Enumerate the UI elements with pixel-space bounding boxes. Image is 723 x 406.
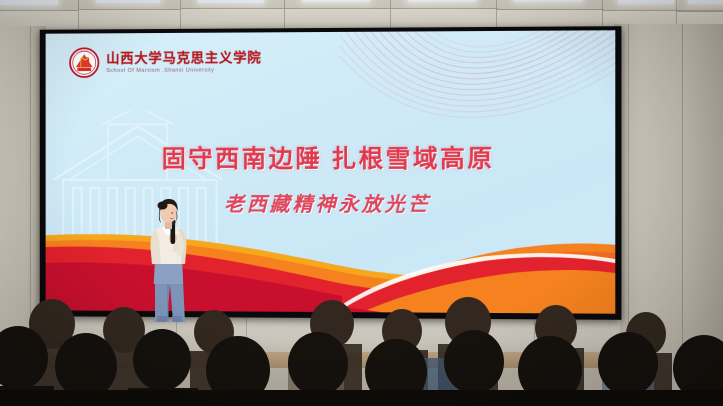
ceiling-light	[302, 0, 370, 2]
ceiling-light	[618, 0, 674, 4]
audience-silhouettes	[0, 294, 723, 406]
ceiling-light	[688, 0, 723, 4]
lecture-hall-scene: ★ ★ ★ 山西大学马克思主义学院 School Of Marxism ,Sha…	[0, 0, 723, 406]
led-screen-bezel: ★ ★ ★ 山西大学马克思主义学院 School Of Marxism ,Sha…	[40, 26, 622, 320]
ceiling-light	[514, 0, 582, 2]
presentation-slide[interactable]: ★ ★ ★ 山西大学马克思主义学院 School Of Marxism ,Sha…	[46, 30, 616, 313]
slide-title-main: 固守西南边陲 扎根雪域高原	[46, 140, 616, 175]
institution-logo: ★ ★ ★ 山西大学马克思主义学院 School Of Marxism ,Sha…	[69, 46, 261, 78]
ceiling-light	[0, 0, 58, 5]
svg-text:★ ★ ★: ★ ★ ★	[81, 50, 88, 53]
ceiling-light	[408, 0, 476, 2]
ceiling-light	[198, 0, 264, 3]
logo-chinese-name: 山西大学马克思主义学院	[106, 50, 261, 66]
logo-english-name: School Of Marxism ,Shanxi University	[106, 67, 261, 74]
university-emblem-icon: ★ ★ ★	[69, 47, 99, 78]
ceiling-light	[96, 0, 160, 3]
